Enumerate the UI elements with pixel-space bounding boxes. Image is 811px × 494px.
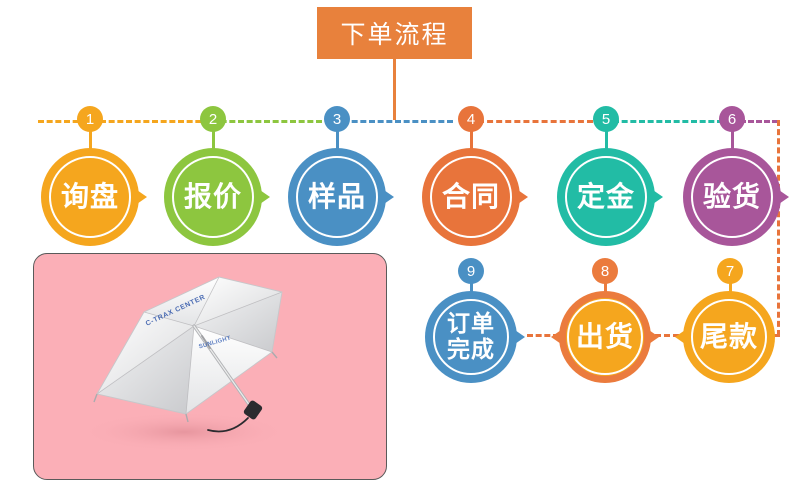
step-label-9-line1: 订单: [447, 311, 495, 337]
step-badge-6: 6: [719, 106, 745, 132]
step-number-4: 4: [467, 111, 475, 128]
step-arrow-9: [512, 328, 525, 346]
step-label-8: 出货: [576, 323, 634, 351]
step-badge-1: 1: [77, 106, 103, 132]
product-image-card[interactable]: C-TRAX CENTER SUNLIGHT: [33, 253, 387, 480]
step-number-6: 6: [728, 111, 736, 128]
step-arrow-3: [381, 188, 394, 206]
step-badge-3: 3: [324, 106, 350, 132]
step-badge-4: 4: [458, 106, 484, 132]
step-badge-2: 2: [200, 106, 226, 132]
step-arrow-7: [675, 328, 688, 346]
step-node-1[interactable]: 询盘: [41, 148, 139, 246]
title-connector-line: [393, 58, 396, 120]
connector-segment-2: [100, 120, 210, 123]
step-badge-7: 7: [717, 258, 743, 284]
step-number-5: 5: [602, 111, 610, 128]
step-arrow-6: [776, 188, 789, 206]
connector-segment-5: [478, 120, 593, 123]
step-arrow-8-left: [551, 328, 564, 346]
step-node-5[interactable]: 定金: [557, 148, 655, 246]
step-label-6: 验货: [703, 183, 761, 211]
step-node-4[interactable]: 合同: [422, 148, 520, 246]
step-number-2: 2: [209, 111, 217, 128]
step-badge-5: 5: [593, 106, 619, 132]
umbrella-illustration: [34, 254, 386, 479]
step-label-4: 合同: [442, 183, 500, 211]
step-number-8: 8: [601, 263, 609, 280]
step-arrow-2: [257, 188, 270, 206]
connector-segment-6: [613, 120, 723, 123]
connector-segment-4: [343, 120, 453, 123]
page-title-text: 下单流程: [340, 15, 448, 51]
step-number-3: 3: [333, 111, 341, 128]
step-arrow-1: [134, 188, 147, 206]
step-node-9[interactable]: 订单 完成: [425, 291, 517, 383]
step-badge-9: 9: [458, 258, 484, 284]
page-title: 下单流程: [317, 7, 472, 59]
connector-segment-7: [740, 120, 778, 123]
step-node-7[interactable]: 尾款: [683, 291, 775, 383]
order-process-infographic: 下单流程 1 询盘 2 报价 3: [0, 0, 811, 494]
connector-segment-3: [212, 120, 322, 123]
step-node-6[interactable]: 验货: [683, 148, 781, 246]
step-node-3[interactable]: 样品: [288, 148, 386, 246]
step-number-1: 1: [86, 111, 94, 128]
step-number-7: 7: [726, 263, 734, 280]
step-label-5: 定金: [577, 183, 635, 211]
step-label-2: 报价: [184, 183, 242, 211]
step-arrow-4: [515, 188, 528, 206]
step-label-9-line2: 完成: [447, 337, 495, 363]
step-label-9: 订单 完成: [447, 311, 495, 363]
step-label-1: 询盘: [61, 183, 119, 211]
step-arrow-8-right: [646, 328, 659, 346]
step-label-7: 尾款: [700, 323, 758, 351]
step-number-9: 9: [467, 263, 475, 280]
step-arrow-5: [650, 188, 663, 206]
step-label-3: 样品: [308, 183, 366, 211]
step-node-8[interactable]: 出货: [559, 291, 651, 383]
step-node-2[interactable]: 报价: [164, 148, 262, 246]
step-badge-8: 8: [592, 258, 618, 284]
